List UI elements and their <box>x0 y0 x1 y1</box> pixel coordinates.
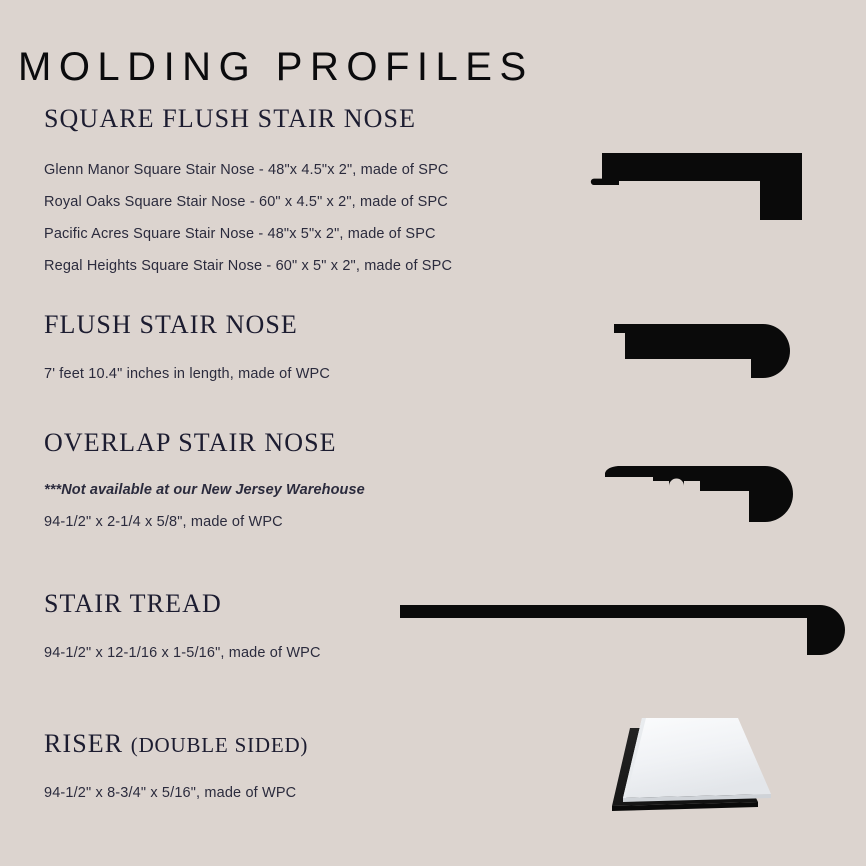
section-square-flush-stair-nose: SQUARE FLUSH STAIR NOSE Glenn Manor Squa… <box>44 104 452 282</box>
overlap-stair-nose-profile <box>585 455 809 533</box>
flush-stair-nose-profile <box>588 312 804 390</box>
riser-front-panel <box>623 718 771 802</box>
spec-list: 94-1/2" x 8-3/4" x 5/16", made of WPC <box>44 777 308 809</box>
riser-double-sided-panels <box>598 706 788 836</box>
section-stair-tread: STAIR TREAD 94-1/2" x 12-1/16 x 1-5/16",… <box>44 589 321 669</box>
section-heading: OVERLAP STAIR NOSE <box>44 428 365 458</box>
section-heading: FLUSH STAIR NOSE <box>44 310 330 340</box>
section-flush-stair-nose: FLUSH STAIR NOSE 7' feet 10.4" inches in… <box>44 310 330 390</box>
spec-line: Regal Heights Square Stair Nose - 60" x … <box>44 250 452 282</box>
section-heading: STAIR TREAD <box>44 589 321 619</box>
spec-line: 94-1/2" x 2-1/4 x 5/8", made of WPC <box>44 506 365 538</box>
spec-list: 7' feet 10.4" inches in length, made of … <box>44 358 330 390</box>
spec-line: Glenn Manor Square Stair Nose - 48"x 4.5… <box>44 154 452 186</box>
section-heading: RISER (DOUBLE SIDED) <box>44 729 308 759</box>
section-overlap-stair-nose: OVERLAP STAIR NOSE ***Not available at o… <box>44 428 365 538</box>
spec-line: Pacific Acres Square Stair Nose - 48"x 5… <box>44 218 452 250</box>
availability-warning: ***Not available at our New Jersey Wareh… <box>44 474 365 506</box>
stair-tread-profile <box>396 596 848 666</box>
spec-list: Glenn Manor Square Stair Nose - 48"x 4.5… <box>44 154 452 282</box>
page-title: MOLDING PROFILES <box>18 45 534 90</box>
square-flush-stair-nose-profile <box>588 148 804 226</box>
spec-line: 94-1/2" x 12-1/16 x 1-5/16", made of WPC <box>44 637 321 669</box>
spec-line: Royal Oaks Square Stair Nose - 60" x 4.5… <box>44 186 452 218</box>
section-heading: SQUARE FLUSH STAIR NOSE <box>44 104 452 134</box>
spec-line: 94-1/2" x 8-3/4" x 5/16", made of WPC <box>44 777 308 809</box>
section-heading-sub: (DOUBLE SIDED) <box>131 733 308 757</box>
section-heading-main: RISER <box>44 729 131 758</box>
spec-list: 94-1/2" x 12-1/16 x 1-5/16", made of WPC <box>44 637 321 669</box>
molding-profiles-page: MOLDING PROFILES SQUARE FLUSH STAIR NOSE… <box>0 0 866 866</box>
spec-list: ***Not available at our New Jersey Wareh… <box>44 474 365 538</box>
section-riser-double-sided: RISER (DOUBLE SIDED) 94-1/2" x 8-3/4" x … <box>44 729 308 809</box>
spec-line: 7' feet 10.4" inches in length, made of … <box>44 358 330 390</box>
